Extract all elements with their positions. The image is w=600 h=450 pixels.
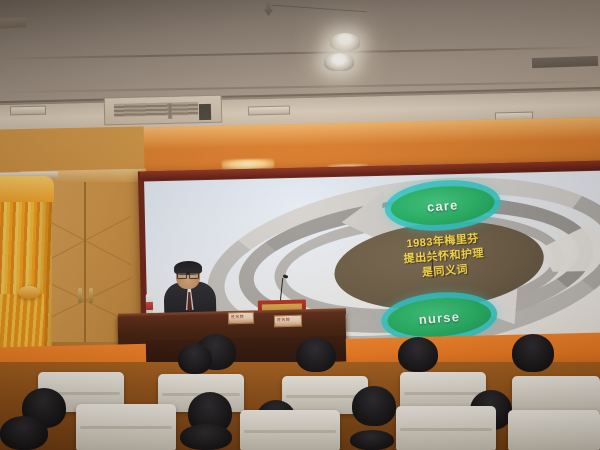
air-conditioner-side-panel (199, 104, 211, 120)
audience-head (512, 334, 554, 372)
air-vent-grille-icon (114, 102, 198, 117)
water-bottle-label (146, 302, 153, 310)
nameplate-label: 姓名牌 (231, 314, 244, 320)
wall-fixture (168, 103, 172, 119)
slide-bubble-care-label: care (426, 197, 459, 214)
audience-head (180, 424, 232, 450)
audience-head (296, 338, 336, 372)
chair-cover-band (80, 426, 172, 429)
speaker-glasses-icon (177, 272, 187, 279)
audience-head (352, 386, 396, 426)
chair-cover-band (404, 392, 482, 395)
audience-head (398, 337, 438, 372)
wall-fixture (10, 106, 46, 116)
chair-cover-band (400, 428, 492, 431)
slide-bubble-nurse-label: nurse (418, 308, 460, 326)
audience-chair (508, 410, 600, 450)
audience-head (0, 416, 48, 450)
audience-head (350, 430, 394, 450)
ceiling-downlight-icon (330, 33, 360, 51)
curtain-header (0, 176, 54, 202)
nameplate-label: 姓名牌 (277, 317, 290, 323)
door-split-seam (84, 182, 86, 342)
wall-fixture (248, 106, 290, 116)
audience-head (178, 344, 212, 374)
door-handle-icon[interactable] (78, 288, 82, 303)
ceiling-vent-left-icon (0, 17, 26, 29)
chair-cover-band (286, 395, 364, 398)
door-handle-icon[interactable] (89, 288, 93, 303)
lecture-hall-photo: 1983年梅里芬 提出关怀和护理 是同义词 care nurse 姓名牌 姓名牌 (0, 0, 600, 450)
chair-cover-band (244, 430, 336, 433)
curtain-tieback[interactable] (18, 286, 40, 299)
ceiling-downlight-icon (324, 53, 354, 71)
audience-chair (512, 376, 600, 414)
speaker-glasses-icon (189, 272, 199, 279)
